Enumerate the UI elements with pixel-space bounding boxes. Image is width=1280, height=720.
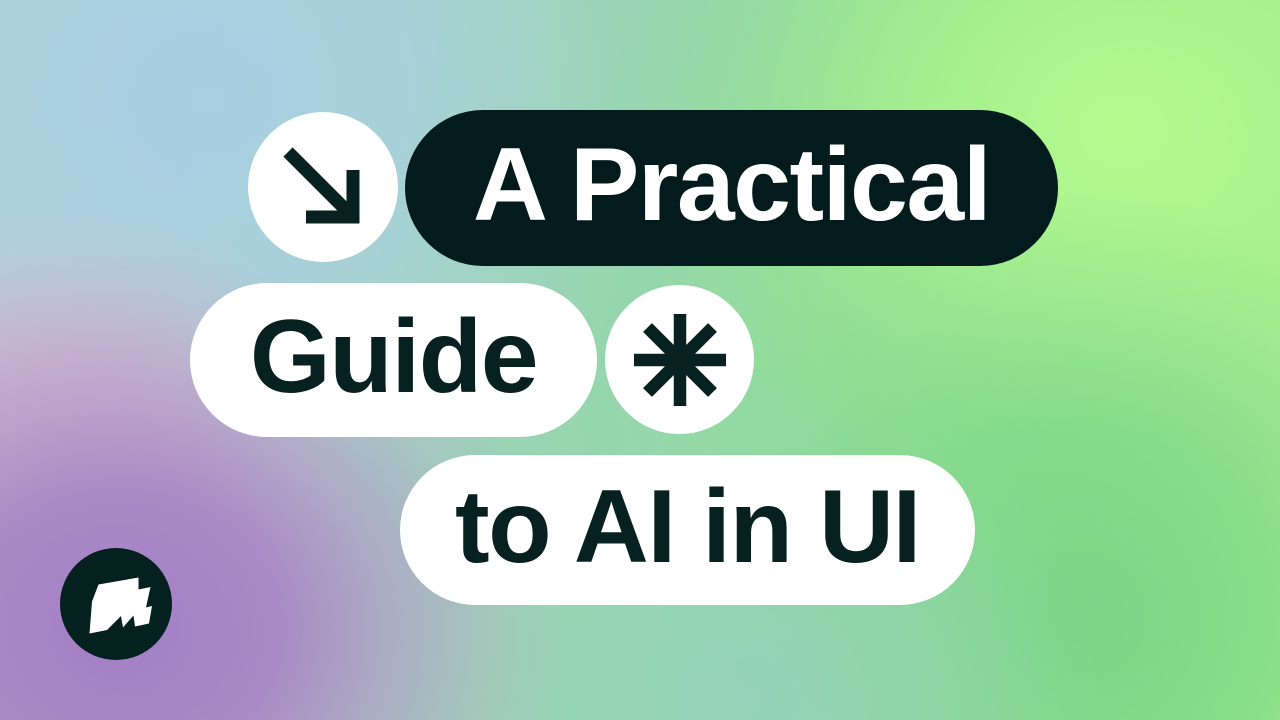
asterisk-icon (605, 285, 754, 434)
brand-mark-icon (78, 568, 154, 640)
arrow-down-right-icon (248, 112, 398, 262)
headline-pill-line-1: A Practical (405, 110, 1058, 266)
headline-pill-line-2: Guide (190, 283, 597, 437)
headline-text-line-2: Guide (250, 305, 537, 415)
headline-stack: A Practical Guide to AI in UI (0, 0, 1280, 720)
headline-pill-line-3: to AI in UI (400, 455, 975, 605)
headline-text-line-3: to AI in UI (455, 475, 920, 585)
brand-logo-badge[interactable] (60, 548, 172, 660)
poster-canvas: A Practical Guide to AI in UI (0, 0, 1280, 720)
headline-text-line-1: A Practical (473, 133, 990, 243)
